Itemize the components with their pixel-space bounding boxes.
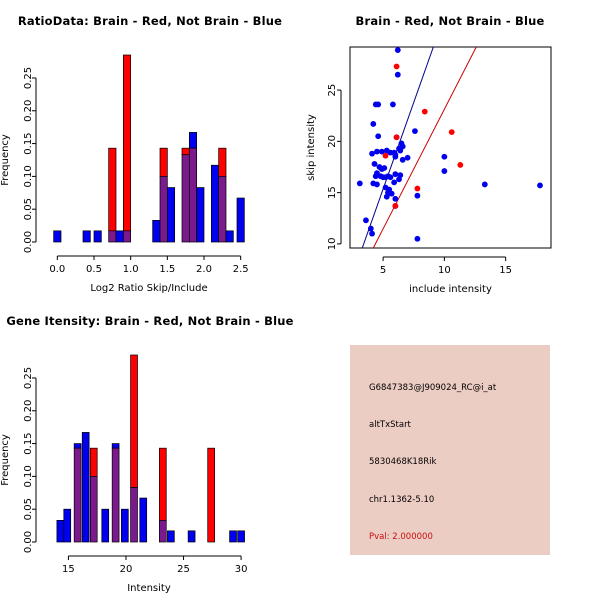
x-axis-tick-label: 1.0 <box>123 264 139 275</box>
x-axis-tick-label: 2.5 <box>233 264 249 275</box>
histogram-bar <box>159 448 166 520</box>
scatter-point <box>369 151 375 157</box>
y-axis-tick-label: 0.20 <box>23 100 34 122</box>
y-axis: 0.000.050.100.150.200.25 <box>23 67 36 253</box>
scatter-point <box>415 236 421 242</box>
scatter-point <box>375 102 381 108</box>
histogram-bar <box>189 132 196 148</box>
scatter-point <box>392 203 398 209</box>
histogram-bar <box>131 355 138 488</box>
scatter-point <box>392 171 398 177</box>
y-axis-tick-label: 0.15 <box>23 132 34 154</box>
histogram-bar <box>74 444 81 449</box>
scatter-series-brain <box>383 64 464 209</box>
y-axis-tick-label: 10 <box>327 238 338 251</box>
histogram-bar <box>230 531 237 542</box>
histogram-bar <box>160 148 167 176</box>
y-axis-tick-label: 15 <box>327 186 338 199</box>
scatter-point <box>449 129 455 135</box>
histogram-bar <box>208 448 215 542</box>
panel-gene-intensity-histogram: Gene Itensity: Brain - Red, Not Brain - … <box>0 300 300 600</box>
gene-symbol: 5830468K18Rik <box>369 457 436 467</box>
scatter-point <box>412 128 418 134</box>
y-axis-tick-label: 20 <box>327 135 338 148</box>
scatter-point <box>482 182 488 188</box>
histogram-bar <box>160 176 167 242</box>
histogram-bar <box>167 531 174 542</box>
scatter-point <box>375 133 381 139</box>
scatter-point <box>395 47 401 53</box>
gene-intensity-histogram-chart: 15202530Intensity0.000.050.100.150.200.2… <box>0 300 300 600</box>
histogram-bar <box>237 198 244 242</box>
histogram-bar <box>211 165 218 242</box>
y-axis-tick-label: 0.10 <box>23 465 34 487</box>
scatter-point <box>441 168 447 174</box>
histogram-bar <box>112 448 119 542</box>
histogram-bar <box>167 188 174 242</box>
y-axis-label: Frequency <box>0 134 11 186</box>
x-axis-tick-label: 2.0 <box>196 264 212 275</box>
x-axis-tick-label: 10 <box>438 265 451 276</box>
scatter-point <box>422 109 428 115</box>
histogram-bar <box>238 531 245 542</box>
histogram-bar <box>90 448 97 476</box>
histogram-bar <box>219 148 226 176</box>
gene-event-type: altTxStart <box>369 420 411 430</box>
scatter-point <box>392 196 398 202</box>
y-axis-tick-label: 0.05 <box>23 198 34 220</box>
scatter-point <box>391 150 397 156</box>
panel-ratio-histogram: RatioData: Brain - Red, Not Brain - Blue… <box>0 0 300 300</box>
x-axis: 15202530 <box>62 556 247 575</box>
gene-probe-id: G6847383@J909024_RC@i_at <box>369 383 496 393</box>
scatter-point <box>457 162 463 168</box>
panel-intensity-scatter: Brain - Red, Not Brain - Blue 51015inclu… <box>300 0 600 300</box>
scatter-point <box>369 231 375 237</box>
histogram-bar <box>159 520 166 542</box>
x-axis-tick-label: 1.5 <box>159 264 175 275</box>
scatter-point <box>395 72 401 78</box>
x-axis: 51015 <box>380 257 512 276</box>
y-axis-tick-label: 0.25 <box>23 67 34 89</box>
histogram-bar <box>64 509 71 542</box>
y-axis-tick-label: 0.20 <box>23 400 34 422</box>
scatter-point <box>537 183 543 189</box>
histogram-bar <box>219 176 226 242</box>
histogram-bar <box>123 55 130 231</box>
histogram-bar <box>182 148 189 155</box>
histogram-bar <box>109 231 116 242</box>
histogram-bar <box>90 476 97 542</box>
y-axis: 0.000.050.100.150.200.25 <box>23 367 36 553</box>
plot-box <box>350 47 551 248</box>
scatter-point <box>397 172 403 178</box>
scatter-point <box>357 180 363 186</box>
scatter-point <box>394 64 400 70</box>
histogram-bar <box>189 148 196 242</box>
x-axis-tick-label: 30 <box>235 564 248 575</box>
histogram-bar <box>116 231 123 242</box>
scatter-point <box>415 186 421 192</box>
scatter-point <box>381 165 387 171</box>
histogram-bar <box>74 448 81 542</box>
x-axis-tick-label: 0.0 <box>49 264 65 275</box>
scatter-point <box>388 174 394 180</box>
histogram-bar <box>153 220 160 242</box>
y-axis-label: skip intensity <box>306 114 317 181</box>
scatter-point <box>363 217 369 223</box>
x-axis: 0.00.51.01.52.02.5 <box>49 256 248 275</box>
y-axis: 10152025 <box>327 84 341 251</box>
scatter-point <box>390 102 396 108</box>
scatter-point <box>397 148 403 154</box>
ratio-histogram-chart: 0.00.51.01.52.02.5Log2 Ratio Skip/Includ… <box>0 0 300 300</box>
scatter-point <box>415 193 421 199</box>
scatter-point <box>389 191 395 197</box>
panel-title-ratio: RatioData: Brain - Red, Not Brain - Blue <box>0 14 300 28</box>
x-axis-label: Intensity <box>127 583 171 594</box>
histogram-bar <box>131 488 138 542</box>
x-axis-tick-label: 20 <box>120 564 133 575</box>
y-axis-tick-label: 0.00 <box>23 231 34 253</box>
histogram-bar <box>188 531 195 542</box>
scatter-point <box>394 134 400 140</box>
scatter-point <box>370 121 376 127</box>
x-axis-label: include intensity <box>409 284 492 295</box>
x-axis-tick-label: 5 <box>380 265 386 276</box>
x-axis-label: Log2 Ratio Skip/Include <box>90 283 207 294</box>
regression-line-red-regression <box>373 47 476 248</box>
histogram-bar <box>102 509 109 542</box>
y-axis-tick-label: 0.00 <box>23 531 34 553</box>
scatter-point <box>374 182 380 188</box>
histogram-bar <box>123 231 130 242</box>
x-axis-tick-label: 0.5 <box>86 264 102 275</box>
histogram-bar <box>112 444 119 449</box>
scatter-point <box>391 179 397 185</box>
histogram-bar <box>109 148 116 231</box>
histogram-bar <box>94 231 101 242</box>
y-axis-tick-label: 25 <box>327 84 338 97</box>
panel-gene-info: G6847383@J909024_RC@i_at altTxStart 5830… <box>300 300 600 600</box>
gene-locus: chr1.1362-5.10 <box>369 495 434 505</box>
x-axis-tick-label: 15 <box>62 564 75 575</box>
scatter-point <box>372 161 378 167</box>
scatter-point <box>383 153 389 159</box>
scatter-point <box>441 154 447 160</box>
y-axis-tick-label: 0.15 <box>23 432 34 454</box>
histogram-bars <box>54 55 245 242</box>
histogram-bar <box>226 231 233 242</box>
y-axis-tick-label: 0.25 <box>23 367 34 389</box>
histogram-bar <box>54 231 61 242</box>
x-axis-tick-label: 25 <box>177 564 190 575</box>
gene-info-box: G6847383@J909024_RC@i_at altTxStart 5830… <box>350 345 550 555</box>
histogram-bar <box>182 155 189 242</box>
panel-title-scatter: Brain - Red, Not Brain - Blue <box>300 14 600 28</box>
scatter-point <box>400 157 406 163</box>
y-axis-tick-label: 0.05 <box>23 498 34 520</box>
y-axis-tick-label: 0.10 <box>23 165 34 187</box>
histogram-bar <box>57 520 64 542</box>
scatter-point <box>384 194 390 200</box>
y-axis-label: Frequency <box>0 434 11 486</box>
scatter-point <box>368 226 374 232</box>
histogram-bars <box>57 355 245 542</box>
panel-title-gene-intensity: Gene Itensity: Brain - Red, Not Brain - … <box>0 314 300 328</box>
histogram-bar <box>82 432 89 542</box>
x-axis-tick-label: 15 <box>499 265 512 276</box>
histogram-bar <box>83 231 90 242</box>
histogram-bar <box>197 188 204 242</box>
intensity-scatter-chart: 51015include intensity10152025skip inten… <box>300 0 600 300</box>
scatter-series-not-brain <box>357 47 543 241</box>
gene-pvalue: Pval: 2.000000 <box>369 532 433 542</box>
histogram-bar <box>140 498 147 542</box>
histogram-bar <box>121 509 128 542</box>
plot-region <box>357 47 543 248</box>
